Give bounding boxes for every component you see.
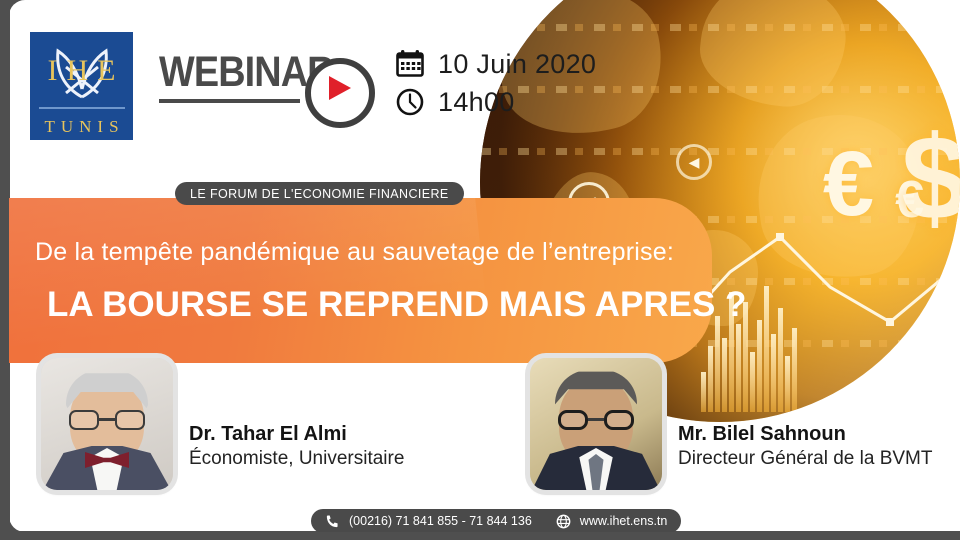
avatar (41, 358, 173, 490)
clock-icon (395, 87, 425, 117)
webinar-title: LA BOURSE SE REPREND MAIS APRES ? (47, 285, 746, 325)
speaker-role: Économiste, Universitaire (189, 448, 404, 470)
glasses-icon (557, 410, 635, 430)
event-date-row: 10 Juin 2020 (395, 45, 596, 83)
event-datetime: 10 Juin 2020 14h00 (395, 45, 596, 121)
contact-website: www.ihet.ens.tn (580, 514, 668, 528)
webinar-subtitle: De la tempête pandémique au sauvetage de… (35, 238, 674, 267)
dollar-symbol-icon: $ (901, 118, 960, 238)
event-date: 10 Juin 2020 (438, 49, 596, 80)
forum-badge: LE FORUM DE L'ECONOMIE FINANCIERE (175, 182, 464, 205)
contact-bar: (00216) 71 841 855 - 71 844 136 www.ihet… (311, 509, 681, 532)
logo-city: TUNIS (38, 109, 124, 137)
globe-icon (556, 514, 571, 529)
speaker-name: Dr. Tahar El Almi (189, 423, 404, 446)
contact-phone: (00216) 71 841 855 - 71 844 136 (349, 514, 532, 528)
poster-card: € € € $ ◀ ◀ ◀ IHE TUNIS WEBINAR (9, 0, 960, 532)
calendar-icon (395, 49, 425, 79)
telephone-icon (325, 514, 340, 529)
speaker-card: Mr. Bilel Sahnoun Directeur Général de l… (530, 358, 933, 490)
speaker-role: Directeur Général de la BVMT (678, 448, 933, 470)
avatar (530, 358, 662, 490)
glasses-icon (68, 410, 146, 430)
speaker-name: Mr. Bilel Sahnoun (678, 423, 933, 446)
euro-symbol-icon: € (823, 138, 874, 230)
event-time-row: 14h00 (395, 83, 596, 121)
speaker-card: Dr. Tahar El Almi Économiste, Universita… (41, 358, 404, 490)
webinar-underline (159, 99, 300, 103)
frame-bottom-edge (0, 531, 960, 540)
event-time: 14h00 (438, 87, 515, 118)
arrow-left-circle-icon: ◀ (676, 144, 712, 180)
ihe-tunis-logo: IHE TUNIS (30, 32, 133, 140)
webinar-poster: € € € $ ◀ ◀ ◀ IHE TUNIS WEBINAR (0, 0, 960, 540)
title-banner (9, 198, 712, 363)
play-circle-icon[interactable] (305, 58, 375, 128)
logo-letters: IHE (39, 54, 125, 88)
